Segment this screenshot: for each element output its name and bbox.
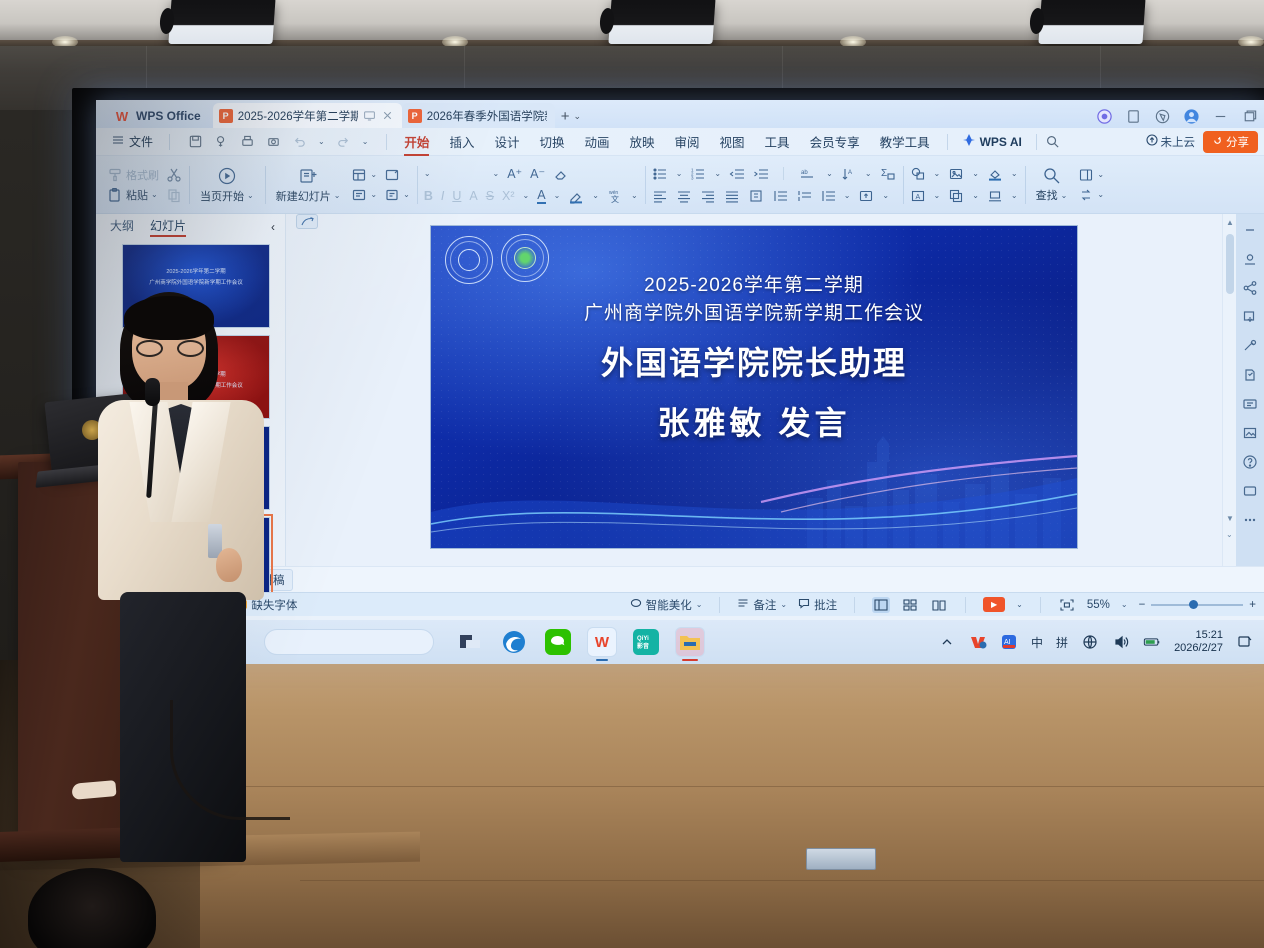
ribbon-tab-tools[interactable]: 工具 xyxy=(756,129,799,155)
align-objects-icon[interactable] xyxy=(987,188,1003,204)
font-row-bottom: B I U A S X² ⌄ A ⌄ ⌄ wén xyxy=(424,188,638,204)
favorites-icon[interactable] xyxy=(1242,367,1258,383)
chevron-down-icon[interactable]: ⌄ xyxy=(865,169,872,178)
eye-icon[interactable] xyxy=(1096,108,1113,125)
cloud-status-button[interactable]: 未上云 xyxy=(1146,134,1196,150)
chevron-down-icon[interactable]: ⌄ xyxy=(247,191,254,200)
sort-icon[interactable]: A xyxy=(841,166,857,182)
justify-icon[interactable] xyxy=(724,188,740,204)
slide-master-button[interactable]: ⌄ xyxy=(384,187,410,203)
resource-icon[interactable] xyxy=(1242,396,1258,412)
ceiling-spotlight xyxy=(1038,0,1145,44)
zoom-level-label[interactable]: 55% xyxy=(1087,599,1110,611)
document-tab-2[interactable]: P 2026年春季外国语学院新学期工作会 xyxy=(402,103,555,128)
ribbon-tab-label: 放映 xyxy=(630,136,655,150)
strikethrough-button[interactable]: S xyxy=(486,189,494,203)
menu-bar: 文件 ⌄ xyxy=(96,128,1264,156)
replace-icon xyxy=(1078,187,1094,203)
find-label: 查找 xyxy=(1036,187,1058,203)
play-circle-icon xyxy=(217,166,237,186)
wps-brand: W WPS Office xyxy=(102,104,213,128)
wps-office-window[interactable]: W WPS Office P 2025-2026学年第二学期新 P 2026年春… xyxy=(96,100,1264,620)
chevron-down-icon[interactable]: ⌄ xyxy=(1061,191,1068,200)
slide-layout-button[interactable]: ⌄ xyxy=(351,167,377,183)
cloud-upload-icon xyxy=(1146,134,1158,149)
document-tab-2-label: 2026年春季外国语学院新学期工作会 xyxy=(427,108,547,124)
status-right-controls: 智能美化 ⌄ 备注 ⌄ 批注 xyxy=(630,597,1256,613)
document-tab-1-label: 2025-2026学年第二学期新 xyxy=(238,108,358,124)
chevron-down-icon[interactable]: ⌄ xyxy=(1121,600,1128,609)
clock-time: 15:21 xyxy=(1195,629,1223,642)
superscript-button[interactable]: X² xyxy=(502,189,515,203)
window-controls xyxy=(1096,108,1258,125)
sum-icon[interactable]: Σ xyxy=(880,166,896,182)
pane-tab-slides[interactable]: 幻灯片 xyxy=(150,217,186,237)
svg-text:3: 3 xyxy=(691,175,694,180)
ribbon-tab-label: 开始 xyxy=(404,136,429,150)
file-menu-label: 文件 xyxy=(129,133,153,150)
help-icon[interactable] xyxy=(1242,454,1258,470)
replace-button[interactable]: ⌄ xyxy=(1078,187,1104,203)
chevron-down-icon[interactable]: ⌄ xyxy=(676,169,683,178)
copy-icon xyxy=(166,187,182,203)
battery-icon[interactable] xyxy=(1143,633,1161,651)
thumb-line-2: 广州商学院外国语学院新学期工作会议 xyxy=(131,278,261,286)
ppt-file-icon: P xyxy=(219,109,233,123)
notes-icon xyxy=(737,597,749,612)
chevron-down-icon[interactable]: ⌄ xyxy=(370,190,377,199)
chevron-down-icon[interactable]: ⌄ xyxy=(334,191,341,200)
normal-view-icon[interactable] xyxy=(872,597,890,613)
bullet-list-icon[interactable] xyxy=(652,166,668,182)
wave-decoration xyxy=(431,438,1077,548)
reading-view-icon[interactable] xyxy=(930,597,948,613)
wps-office-icon[interactable]: W xyxy=(588,628,616,656)
svg-text:文: 文 xyxy=(611,194,619,204)
ribbon-group-clipboard: 格式刷 粘贴 ⌄ xyxy=(100,158,189,212)
text-shadow-button[interactable]: A xyxy=(469,189,477,203)
select-pane-icon xyxy=(1078,167,1094,183)
ime-pinyin-indicator[interactable]: 拼 xyxy=(1056,634,1068,651)
chevron-down-icon[interactable]: ⌄ xyxy=(1016,600,1023,609)
scrollbar-thumb[interactable] xyxy=(1226,234,1234,294)
ribbon-tab-design[interactable]: 设计 xyxy=(485,129,528,155)
ribbon-tab-label: 视图 xyxy=(720,136,745,150)
svg-text:A: A xyxy=(915,194,920,201)
ribbon-tab-label: 设计 xyxy=(494,136,519,150)
record-icon[interactable] xyxy=(1242,251,1258,267)
font-row-top: ⌄ ⌄ A⁺ A⁻ xyxy=(424,166,638,182)
zoom-track[interactable] xyxy=(1151,604,1243,606)
maximize-icon[interactable] xyxy=(1241,108,1258,125)
notes-toggle-button[interactable]: 备注 ⌄ xyxy=(737,597,787,613)
zoom-knob[interactable] xyxy=(1189,600,1198,609)
ceiling-spotlight xyxy=(608,0,715,44)
select-pane-button[interactable]: ⌄ xyxy=(1078,167,1104,183)
svg-text:QiYi: QiYi xyxy=(637,636,649,642)
feedback-icon[interactable] xyxy=(1242,483,1258,499)
ribbon-tab-start[interactable]: 开始 xyxy=(395,129,438,155)
reset-slide-button[interactable] xyxy=(384,167,410,183)
chevron-down-icon[interactable]: ⌄ xyxy=(882,191,889,200)
share-node-icon[interactable] xyxy=(1242,280,1258,296)
new-slide-label: 新建幻灯片 xyxy=(276,188,331,204)
copy-button[interactable] xyxy=(166,187,182,203)
scroll-up-icon[interactable]: ▲ xyxy=(1226,218,1234,227)
share-label: 分享 xyxy=(1226,134,1249,150)
smart-beautify-button[interactable]: 智能美化 ⌄ xyxy=(630,597,703,613)
ribbon-group-present: 当页开始 ⌄ xyxy=(189,158,265,212)
network-icon[interactable] xyxy=(1081,633,1099,651)
search-icon xyxy=(1042,166,1061,185)
chevron-down-icon[interactable]: ⌄ xyxy=(844,191,851,200)
notes-label: 备注 xyxy=(753,597,776,613)
search-doc-icon[interactable] xyxy=(214,134,229,149)
ribbon-tab-insert[interactable]: 插入 xyxy=(440,129,483,155)
taskbar-search-box[interactable] xyxy=(264,629,434,655)
qiyi-video-icon[interactable]: QiYi影音 xyxy=(632,628,660,656)
undo-chevron-icon[interactable]: ⌄ xyxy=(318,137,325,146)
ribbon-tab-animation[interactable]: 动画 xyxy=(575,129,618,155)
decrease-indent-icon[interactable] xyxy=(729,166,745,182)
font-color-button[interactable]: A xyxy=(537,188,545,204)
increase-font-size-button[interactable]: A⁺ xyxy=(507,166,522,181)
chevron-down-icon[interactable]: ⌄ xyxy=(631,191,638,200)
document-tab-1[interactable]: P 2025-2026学年第二学期新 xyxy=(213,103,402,128)
align-right-icon[interactable] xyxy=(700,188,716,204)
cut-button[interactable] xyxy=(166,167,182,183)
zoom-in-button[interactable]: + xyxy=(1249,599,1256,611)
chevron-down-icon[interactable]: ⌄ xyxy=(592,191,599,200)
menu-icon xyxy=(112,134,124,149)
find-button[interactable]: 查找 ⌄ xyxy=(1032,166,1072,203)
number-list-icon[interactable]: 123 xyxy=(690,166,706,182)
taskbar-app-icons: W QiYi影音 xyxy=(456,628,704,656)
chevron-down-icon[interactable]: ⌄ xyxy=(934,191,941,200)
pane-tab-outline[interactable]: 大纲 xyxy=(110,217,134,237)
slide-editor[interactable]: 2025-2026学年第二学期 广州商学院外国语学院新学期工作会议 外国语学院院… xyxy=(286,214,1222,566)
redo-icon[interactable] xyxy=(336,134,351,149)
fit-to-window-icon[interactable] xyxy=(1058,597,1076,613)
quick-access-toolbar: ⌄ ⌄ xyxy=(178,134,378,149)
bold-button[interactable]: B xyxy=(424,189,433,203)
image-library-icon[interactable] xyxy=(1242,425,1258,441)
right-tool-sidebar[interactable] xyxy=(1236,214,1264,566)
present-from-current-label: 当页开始 xyxy=(200,188,244,204)
chevron-down-icon[interactable]: ⌄ xyxy=(370,170,377,179)
drawing-row-top: ⌄ ⌄ ⌄ xyxy=(910,166,1018,182)
ribbon-group-editing: 查找 ⌄ ⌄ ⌄ xyxy=(1025,158,1111,212)
chevron-down-icon[interactable]: ⌄ xyxy=(554,191,561,200)
notification-icon[interactable] xyxy=(1236,633,1254,651)
ai-tray-icon[interactable]: AI xyxy=(1000,633,1018,651)
comment-label: 批注 xyxy=(814,597,837,613)
comment-button[interactable]: 批注 xyxy=(798,597,837,613)
print-preview-icon[interactable] xyxy=(266,134,281,149)
new-tab-button[interactable]: + ⌄ xyxy=(555,108,587,128)
presenter-glasses xyxy=(136,340,204,357)
title-bar: W WPS Office P 2025-2026学年第二学期新 P 2026年春… xyxy=(96,100,1264,128)
arrange-objects-icon[interactable] xyxy=(948,188,964,204)
chevron-down-icon[interactable]: ⌄ xyxy=(696,600,703,609)
ribbon-tab-teaching[interactable]: 教学工具 xyxy=(871,129,939,155)
save-icon[interactable] xyxy=(188,134,203,149)
more-icon[interactable]: ⌄ xyxy=(362,137,369,146)
svg-text:AI: AI xyxy=(1004,639,1011,646)
present-tab-icon[interactable] xyxy=(363,109,376,122)
tab-list-chevron-icon[interactable]: ⌄ xyxy=(573,111,581,122)
ribbon-group-paragraph: ⌄ 123 ⌄ ab xyxy=(645,158,903,212)
text-direction-icon[interactable]: ab xyxy=(798,166,818,182)
slide-line-3: 外国语学院院长助理 xyxy=(431,338,1077,384)
chevron-down-icon[interactable]: ⌄ xyxy=(972,191,979,200)
reset-slide-icon xyxy=(384,167,400,183)
ribbon-tab-label: 会员专享 xyxy=(810,136,860,150)
underline-button[interactable]: U xyxy=(452,189,461,203)
more-options-icon[interactable] xyxy=(1242,512,1258,528)
chevron-down-icon[interactable]: ⌄ xyxy=(1097,170,1104,179)
align-center-icon[interactable] xyxy=(676,188,692,204)
paste-label: 粘贴 xyxy=(126,187,148,203)
paragraph-spacing-icon[interactable] xyxy=(796,188,812,204)
file-explorer-icon[interactable] xyxy=(456,628,484,656)
clock-date: 2026/2/27 xyxy=(1174,642,1223,655)
line-spacing-icon[interactable] xyxy=(772,188,788,204)
wps-tray-icon[interactable] xyxy=(969,633,987,651)
zoom-out-button[interactable]: − xyxy=(1139,599,1146,611)
floor-vent xyxy=(806,848,876,870)
chevron-down-icon[interactable]: ⌄ xyxy=(523,191,530,200)
play-icon[interactable]: ▶ xyxy=(983,597,1005,612)
comment-icon xyxy=(798,597,810,612)
close-icon[interactable] xyxy=(381,109,394,122)
slide-line-2: 广州商学院外国语学院新学期工作会议 xyxy=(431,298,1077,325)
edge-browser-icon[interactable] xyxy=(500,628,528,656)
smart-beautify-label: 智能美化 xyxy=(646,597,692,613)
format-painter-button[interactable]: 格式刷 xyxy=(107,167,159,183)
chevron-left-icon[interactable]: ‹ xyxy=(271,220,275,234)
ribbon-tab-member[interactable]: 会员专享 xyxy=(801,129,869,155)
thumb-line-1: 2025-2026学年第二学期 xyxy=(131,267,261,275)
section-icon xyxy=(351,187,367,203)
scroll-down-icon[interactable]: ▼ xyxy=(1226,514,1234,523)
ribbon-tab-label: 插入 xyxy=(449,136,474,150)
svg-text:Σ: Σ xyxy=(881,168,887,179)
chevron-down-icon[interactable]: ⌄ xyxy=(780,600,787,609)
presenter-hand xyxy=(216,548,242,582)
slide-sorter-icon[interactable] xyxy=(901,597,919,613)
wps-brand-label: WPS Office xyxy=(136,109,201,123)
shapes-icon[interactable] xyxy=(910,166,926,182)
copy-window-icon[interactable] xyxy=(1125,108,1142,125)
show-hidden-icons[interactable] xyxy=(938,633,956,651)
format-painter-label: 格式刷 xyxy=(126,167,159,183)
ribbon-tab-label: 工具 xyxy=(765,136,790,150)
highlight-icon[interactable] xyxy=(568,188,584,204)
eraser-icon[interactable] xyxy=(553,166,569,182)
magic-icon xyxy=(630,597,642,612)
taskbar-clock[interactable]: 15:21 2026/2/27 xyxy=(1174,629,1223,654)
svg-text:影音: 影音 xyxy=(637,642,649,650)
cut-icon xyxy=(166,167,182,183)
chevron-down-icon[interactable]: ⌄ xyxy=(403,190,410,199)
ai-sparkle-icon xyxy=(962,133,976,150)
slide-line-4: 张雅敏 发言 xyxy=(431,398,1077,444)
ribbon-tab-review[interactable]: 审阅 xyxy=(666,129,709,155)
ribbon-toolbar: 格式刷 粘贴 ⌄ xyxy=(96,156,1264,214)
slide-canvas[interactable]: 2025-2026学年第二学期 广州商学院外国语学院新学期工作会议 外国语学院院… xyxy=(431,226,1077,548)
ribbon-tab-label: 审阅 xyxy=(675,136,700,150)
pinyin-guide-icon[interactable]: wén文 xyxy=(607,188,623,204)
font-family-chevron-icon[interactable]: ⌄ xyxy=(424,169,431,178)
undo-icon[interactable] xyxy=(292,134,307,149)
picture-icon[interactable] xyxy=(948,166,964,182)
drawing-row-bottom: A ⌄ ⌄ ⌄ xyxy=(910,188,1018,204)
wps-logo-icon: W xyxy=(114,109,130,123)
ribbon-tab-transition[interactable]: 切换 xyxy=(530,129,573,155)
chevron-down-icon[interactable]: ⌄ xyxy=(1011,191,1018,200)
slide-master-icon xyxy=(384,187,400,203)
new-slide-icon xyxy=(298,166,318,186)
menubar-right-actions: 未上云 分享 xyxy=(1146,131,1259,153)
system-tray: AI 中 拼 15:21 2026/2/27 xyxy=(938,629,1254,654)
ribbon-group-font: ⌄ ⌄ A⁺ A⁻ B I U A S xyxy=(417,158,645,212)
print-icon[interactable] xyxy=(240,134,255,149)
text-box-icon[interactable]: A xyxy=(910,188,926,204)
export-icon[interactable] xyxy=(1242,309,1258,325)
chevron-down-icon[interactable]: ⌄ xyxy=(1097,190,1104,199)
ribbon-tab-label: 切换 xyxy=(539,136,564,150)
font-size-chevron-icon[interactable]: ⌄ xyxy=(493,169,500,178)
search-icon[interactable] xyxy=(1045,134,1060,149)
align-left-icon[interactable] xyxy=(652,188,668,204)
file-menu-button[interactable]: 文件 xyxy=(104,133,161,150)
chevron-down-icon[interactable]: ⌄ xyxy=(826,169,833,178)
wechat-icon[interactable] xyxy=(544,628,572,656)
increase-indent-icon[interactable] xyxy=(753,166,769,182)
user-avatar-icon[interactable] xyxy=(1183,108,1200,125)
vertical-scrollbar[interactable]: ▲ ▼ ⌄ xyxy=(1222,214,1236,566)
layout-icon xyxy=(351,167,367,183)
tools-icon[interactable] xyxy=(1242,338,1258,354)
microphone-icon xyxy=(145,378,160,406)
present-from-current-button[interactable]: 当页开始 ⌄ xyxy=(196,166,258,204)
ceiling-spotlight xyxy=(168,0,275,44)
chevron-down-icon[interactable]: ⌄ xyxy=(934,169,941,178)
scene: W WPS Office P 2025-2026学年第二学期新 P 2026年春… xyxy=(0,0,1264,948)
ribbon-group-drawing: ⌄ ⌄ ⌄ A ⌄ xyxy=(903,158,1025,212)
minimize-panel-icon[interactable] xyxy=(1242,222,1258,238)
ribbon-tab-label: 教学工具 xyxy=(880,136,930,150)
svg-text:A: A xyxy=(848,170,852,176)
slide-line-1: 2025-2026学年第二学期 xyxy=(431,270,1077,297)
shape-fill-icon[interactable] xyxy=(987,166,1003,182)
folder-icon[interactable] xyxy=(676,628,704,656)
distribute-icon[interactable] xyxy=(748,188,764,204)
volume-icon[interactable] xyxy=(1112,633,1130,651)
presenter-hair-front xyxy=(124,296,214,340)
slide-pane-tabs: 大纲 幻灯片 ‹ xyxy=(96,214,285,240)
share-button[interactable]: 分享 xyxy=(1203,131,1258,153)
wps-ai-button[interactable]: WPS AI xyxy=(956,133,1028,150)
paste-icon xyxy=(107,187,123,203)
ime-mode-indicator[interactable]: 中 xyxy=(1031,634,1043,651)
windows-taskbar: W QiYi影音 AI 中 拼 xyxy=(96,620,1264,664)
new-tab-plus-icon: + xyxy=(561,108,570,125)
chevron-down-icon[interactable]: ⌄ xyxy=(1011,169,1018,178)
share-icon xyxy=(1212,135,1223,149)
cloud-status-label: 未上云 xyxy=(1161,134,1196,150)
column-spacing-icon[interactable] xyxy=(820,188,836,204)
chevron-down-icon[interactable]: ⌄ xyxy=(714,169,721,178)
compass-icon[interactable] xyxy=(1154,108,1171,125)
ribbon-group-slides: 新建幻灯片 ⌄ ⌄ ⌄ xyxy=(265,158,417,212)
minimize-icon[interactable] xyxy=(1212,108,1229,125)
svg-text:ab: ab xyxy=(801,170,808,176)
animation-icon[interactable] xyxy=(296,214,318,229)
paragraph-row-bottom: ⌄ ⌄ xyxy=(652,188,896,204)
text-box-align-icon[interactable] xyxy=(858,188,874,204)
italic-button[interactable]: I xyxy=(441,189,444,203)
wps-ai-label: WPS AI xyxy=(980,135,1022,149)
ribbon-tab-slideshow[interactable]: 放映 xyxy=(621,129,664,155)
new-slide-button[interactable]: 新建幻灯片 ⌄ xyxy=(272,166,345,204)
ribbon-tab-view[interactable]: 视图 xyxy=(711,129,754,155)
decrease-font-size-button[interactable]: A⁻ xyxy=(530,166,545,181)
paste-button[interactable]: 粘贴 ⌄ xyxy=(107,187,159,203)
paragraph-row-top: ⌄ 123 ⌄ ab xyxy=(652,166,896,182)
format-painter-icon xyxy=(107,167,123,183)
zoom-slider[interactable]: − + xyxy=(1139,599,1256,611)
ribbon-tab-label: 动画 xyxy=(584,136,609,150)
chevron-down-icon[interactable]: ⌄ xyxy=(151,190,158,199)
ppt-file-icon: P xyxy=(408,109,422,123)
next-slide-icon[interactable]: ⌄ xyxy=(1226,530,1233,539)
chevron-down-icon[interactable]: ⌄ xyxy=(972,169,979,178)
slide-section-button[interactable]: ⌄ xyxy=(351,187,377,203)
editor-body: 大纲 幻灯片 ‹ 1 2025-2026学年第二学期 广州商学院外国语学院新学期… xyxy=(96,214,1264,566)
status-bar: ce 主题 校对 缺失字体 智能美化 ⌄ xyxy=(96,592,1264,616)
